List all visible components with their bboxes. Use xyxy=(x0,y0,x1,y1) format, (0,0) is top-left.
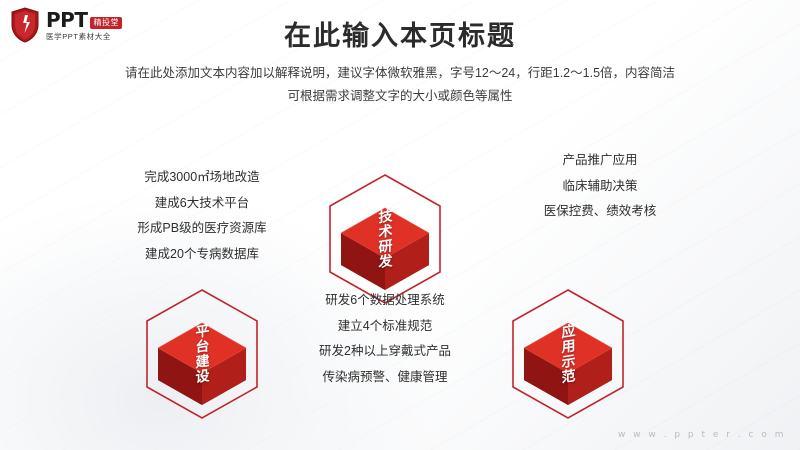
text-group-apply: 产品推广应用 临床辅助决策 医保控费、绩效考核 xyxy=(470,148,730,225)
apply-item-3: 医保控费、绩效考核 xyxy=(470,199,730,225)
apply-item-1: 产品推广应用 xyxy=(470,148,730,174)
cube-platform[interactable]: 平台建设 xyxy=(142,287,262,421)
subtitle-line-1: 请在此处添加文本内容加以解释说明，建议字体微软雅黑，字号12～24，行距1.2～… xyxy=(0,62,800,85)
tech-item-3: 研发2种以上穿戴式产品 xyxy=(255,339,515,365)
page-title: 在此输入本页标题 xyxy=(0,14,800,53)
footer-watermark: w w w . p p t e r . c o m xyxy=(618,430,786,440)
tech-item-1: 研发6个数据处理系统 xyxy=(255,288,515,314)
cube-tech[interactable]: 技术研发 xyxy=(325,172,445,306)
tech-item-4: 传染病预警、健康管理 xyxy=(255,365,515,391)
tech-item-2: 建立4个标准规范 xyxy=(255,314,515,340)
apply-item-2: 临床辅助决策 xyxy=(470,174,730,200)
platform-item-3: 形成PB级的医疗资源库 xyxy=(72,216,332,242)
text-group-tech: 研发6个数据处理系统 建立4个标准规范 研发2种以上穿戴式产品 传染病预警、健康… xyxy=(255,288,515,391)
platform-item-1: 完成3000㎡场地改造 xyxy=(72,165,332,191)
platform-item-4: 建成20个专病数据库 xyxy=(72,242,332,268)
subtitle-line-2: 可根据需求调整文字的大小或颜色等属性 xyxy=(0,85,800,108)
cube-apply[interactable]: 应用示范 xyxy=(508,287,628,421)
slide-canvas: PPT 精投堂 医学PPT素材大全 在此输入本页标题 请在此处添加文本内容加以解… xyxy=(0,0,800,450)
text-group-platform: 完成3000㎡场地改造 建成6大技术平台 形成PB级的医疗资源库 建成20个专病… xyxy=(72,165,332,268)
platform-item-2: 建成6大技术平台 xyxy=(72,191,332,217)
page-subtitle: 请在此处添加文本内容加以解释说明，建议字体微软雅黑，字号12～24，行距1.2～… xyxy=(0,62,800,108)
